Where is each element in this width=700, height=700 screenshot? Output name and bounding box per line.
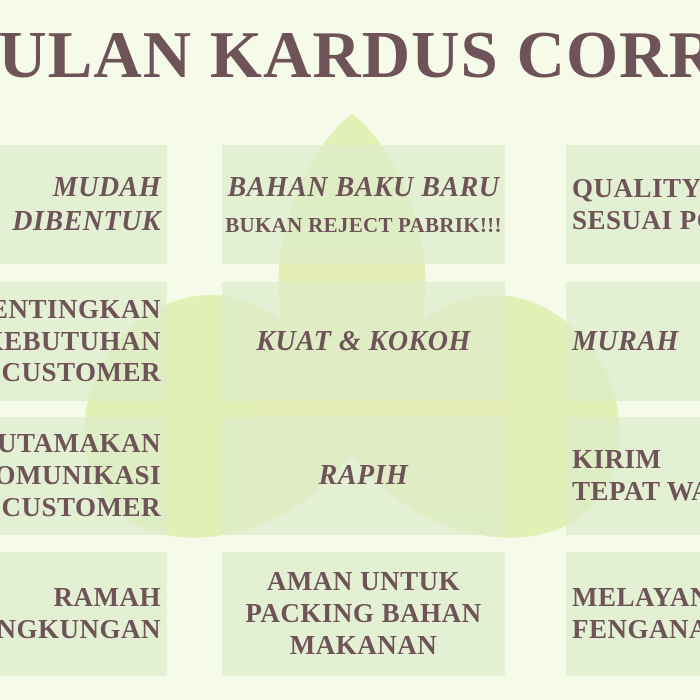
cell-melayani-eceran: MELAYANI FENGANAN	[566, 552, 700, 676]
cell-aman-packing-makanan: AMAN UNTUK PACKING BAHAN MAKANAN	[222, 552, 505, 676]
cell-line: PACKING BAHAN	[245, 598, 481, 630]
cell-line: DENGAN CUSTOMER	[0, 492, 161, 524]
cell-line: RAMAH	[54, 582, 161, 614]
cell-bahan-baku-baru: BAHAN BAKU BARU BUKAN REJECT PABRIK!!!	[222, 145, 505, 264]
cell-rapih: RAPIH	[222, 417, 505, 535]
cell-line: KOMUNIKASI	[0, 460, 161, 492]
cell-subline: BUKAN REJECT PABRIK!!!	[225, 213, 502, 238]
cell-line: CUSTOMER	[1, 357, 161, 389]
cell-line: MUDAH	[53, 171, 161, 205]
cell-line: KIRIM	[572, 444, 662, 476]
poster-canvas: MUDAH DIBENTUK BAHAN BAKU BARU BUKAN REJ…	[0, 0, 700, 700]
page-title: KEUNGGULAN KARDUS CORRUGATED	[0, 22, 700, 89]
cell-line: DIBENTUK	[12, 205, 161, 239]
cell-quality-sesuai: QUALITY SESUAI PO	[566, 145, 700, 264]
cell-line: KUAT & KOKOH	[256, 325, 470, 359]
cell-mudah-dibentuk: MUDAH DIBENTUK	[0, 145, 167, 264]
cell-line: MEMENTINGKAN	[0, 294, 161, 326]
cell-kuat-kokoh: KUAT & KOKOH	[222, 282, 505, 401]
cell-line: FENGANAN	[572, 614, 700, 646]
cell-line: MAKANAN	[290, 630, 437, 662]
cell-line: KEBUTUHAN	[0, 326, 161, 358]
title-container: KEUNGGULAN KARDUS CORRUGATED	[0, 0, 700, 118]
cell-line: BAHAN BAKU BARU	[227, 171, 499, 205]
cell-line: LINGKUNGAN	[0, 614, 161, 646]
cell-murah: MURAH	[566, 282, 700, 401]
cell-kirim-tepat-waktu: KIRIM TEPAT WAKTU	[566, 417, 700, 535]
cell-line: QUALITY	[572, 173, 700, 205]
cell-line: MENGUTAMAKAN	[0, 428, 161, 460]
cell-line: SESUAI PO	[572, 205, 700, 237]
cell-line: MURAH	[572, 325, 679, 359]
cell-line: RAPIH	[319, 459, 409, 493]
cell-line: TEPAT WAKTU	[572, 476, 700, 508]
cell-line: AMAN UNTUK	[267, 566, 460, 598]
cell-line: MELAYANI	[572, 582, 700, 614]
cell-ramah-lingkungan: RAMAH LINGKUNGAN	[0, 552, 167, 676]
cell-mementingkan-kebutuhan: MEMENTINGKAN KEBUTUHAN CUSTOMER	[0, 282, 167, 401]
cell-mengutamakan-komunikasi: MENGUTAMAKAN KOMUNIKASI DENGAN CUSTOMER	[0, 417, 167, 535]
